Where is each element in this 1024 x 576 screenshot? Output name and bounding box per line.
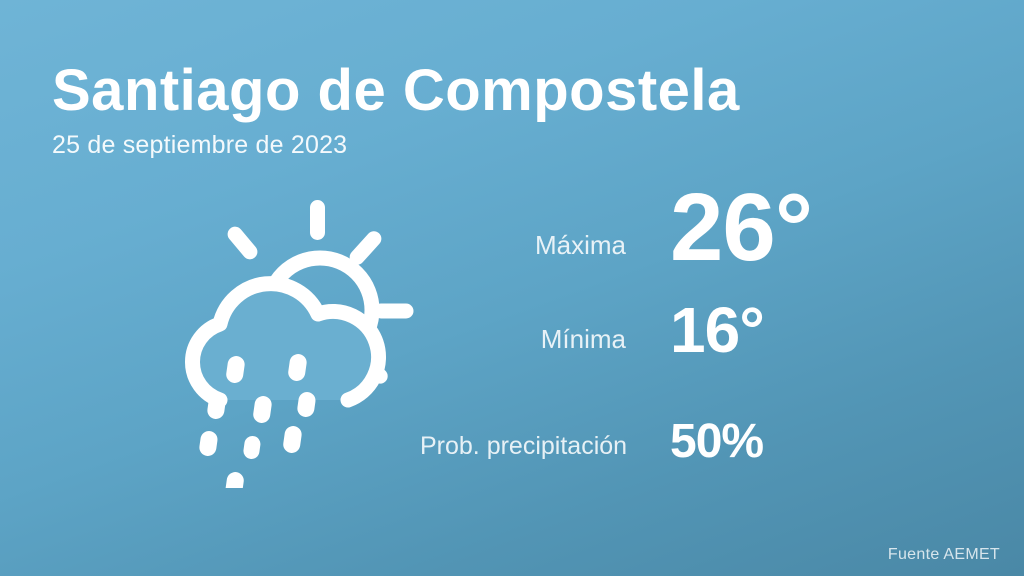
source-attribution: Fuente AEMET: [888, 546, 1000, 564]
raindrop-9: [224, 471, 245, 488]
sun-ray-right: [374, 304, 414, 319]
raindrop-7: [242, 435, 261, 460]
reading-row-precipitacion: Prob. precipitación 50%: [420, 418, 980, 466]
reading-row-maxima: Máxima 26°: [420, 180, 980, 298]
cloud-mask: [190, 282, 380, 400]
weather-icon-graphic: [150, 188, 440, 488]
reading-label-precipitacion: Prob. precipitación: [420, 432, 670, 461]
reading-value-precipitacion: 50%: [670, 418, 763, 466]
readings-list: Máxima 26° Mínima 16° Prob. precipitació…: [420, 180, 980, 466]
reading-value-maxima: 26°: [670, 180, 812, 276]
reading-label-maxima: Máxima: [420, 230, 670, 261]
weather-card: Santiago de Compostela 25 de septiembre …: [0, 0, 1024, 576]
reading-value-minima: 16°: [670, 298, 764, 362]
raindrop-6: [198, 430, 218, 457]
sun-behind-cloud-with-rain-icon: [150, 188, 440, 488]
page-title: Santiago de Compostela: [52, 58, 932, 124]
forecast-date: 25 de septiembre de 2023: [52, 124, 932, 160]
sun-ray-top: [310, 200, 325, 240]
reading-row-minima: Mínima 16°: [420, 298, 980, 418]
card-header: Santiago de Compostela 25 de septiembre …: [52, 58, 932, 160]
reading-label-minima: Mínima: [420, 324, 670, 355]
sun-ray-top-left: [225, 224, 261, 263]
raindrop-8: [282, 425, 303, 454]
